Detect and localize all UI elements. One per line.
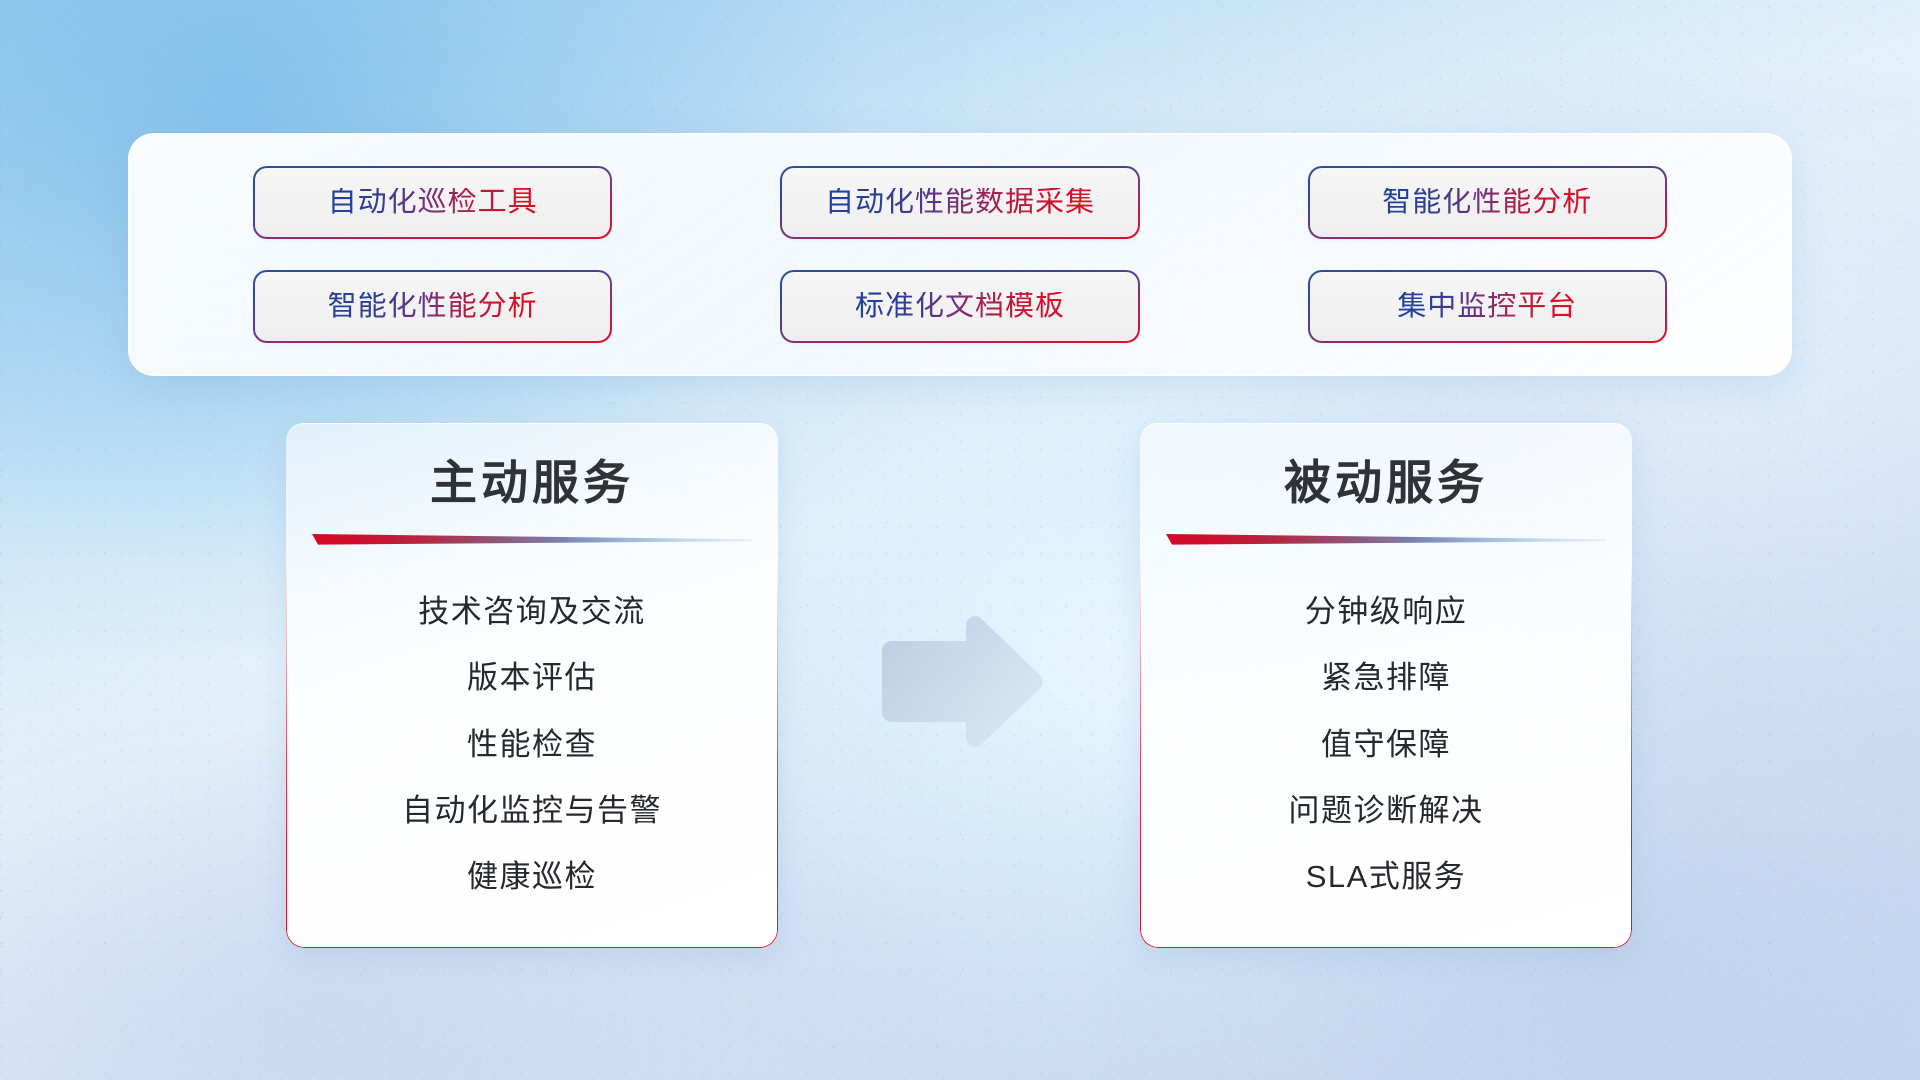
- capability-tag-label: 集中监控平台: [1397, 292, 1577, 321]
- capability-tag-label: 标准化文档模板: [855, 292, 1065, 321]
- service-list-item: 问题诊断解决: [1166, 792, 1606, 829]
- service-list-item: 健康巡检: [312, 858, 752, 895]
- service-card-proactive: 主动服务 技术咨询及交流 版本评估 性能检查 自动化监控与告警: [286, 423, 778, 948]
- capability-tag-label: 自动化性能数据采集: [825, 188, 1095, 217]
- service-list-item: 性能检查: [312, 726, 752, 763]
- capability-tag-1[interactable]: 自动化性能数据采集: [782, 168, 1138, 238]
- capability-tag-label: 智能化性能分析: [328, 292, 538, 321]
- service-list-item: 版本评估: [312, 659, 752, 696]
- service-list-item: SLA式服务: [1166, 858, 1606, 895]
- capability-tag-2[interactable]: 智能化性能分析: [1309, 168, 1665, 238]
- service-card-reactive: 被动服务 分钟级响应 紧急排障 值守保障 问题诊断解决 SLA式: [1140, 423, 1632, 948]
- card-title: 被动服务: [1166, 457, 1606, 510]
- capability-tags-panel: 自动化巡检工具 自动化性能数据采集 智能化性能分析 智能化性能分析 标准化文档模…: [128, 133, 1792, 376]
- service-list-item: 分钟级响应: [1166, 593, 1606, 630]
- service-list-item: 紧急排障: [1166, 659, 1606, 696]
- capability-tag-4[interactable]: 标准化文档模板: [782, 271, 1138, 341]
- card-divider-wedge: [1166, 532, 1606, 545]
- capability-tag-0[interactable]: 自动化巡检工具: [255, 168, 611, 238]
- capability-tag-label: 智能化性能分析: [1382, 188, 1592, 217]
- service-list-item: 自动化监控与告警: [312, 792, 752, 829]
- card-divider-wedge: [312, 532, 752, 545]
- service-item-list: 技术咨询及交流 版本评估 性能检查 自动化监控与告警 健康巡检: [312, 579, 752, 926]
- capability-tag-5[interactable]: 集中监控平台: [1309, 271, 1665, 341]
- service-list-item: 技术咨询及交流: [312, 593, 752, 630]
- service-list-item: 值守保障: [1166, 726, 1606, 763]
- card-title: 主动服务: [312, 457, 752, 510]
- service-item-list: 分钟级响应 紧急排障 值守保障 问题诊断解决 SLA式服务: [1166, 579, 1606, 926]
- capability-tag-3[interactable]: 智能化性能分析: [255, 271, 611, 341]
- capability-tag-label: 自动化巡检工具: [328, 188, 538, 217]
- arrow-right-icon: [874, 613, 1046, 750]
